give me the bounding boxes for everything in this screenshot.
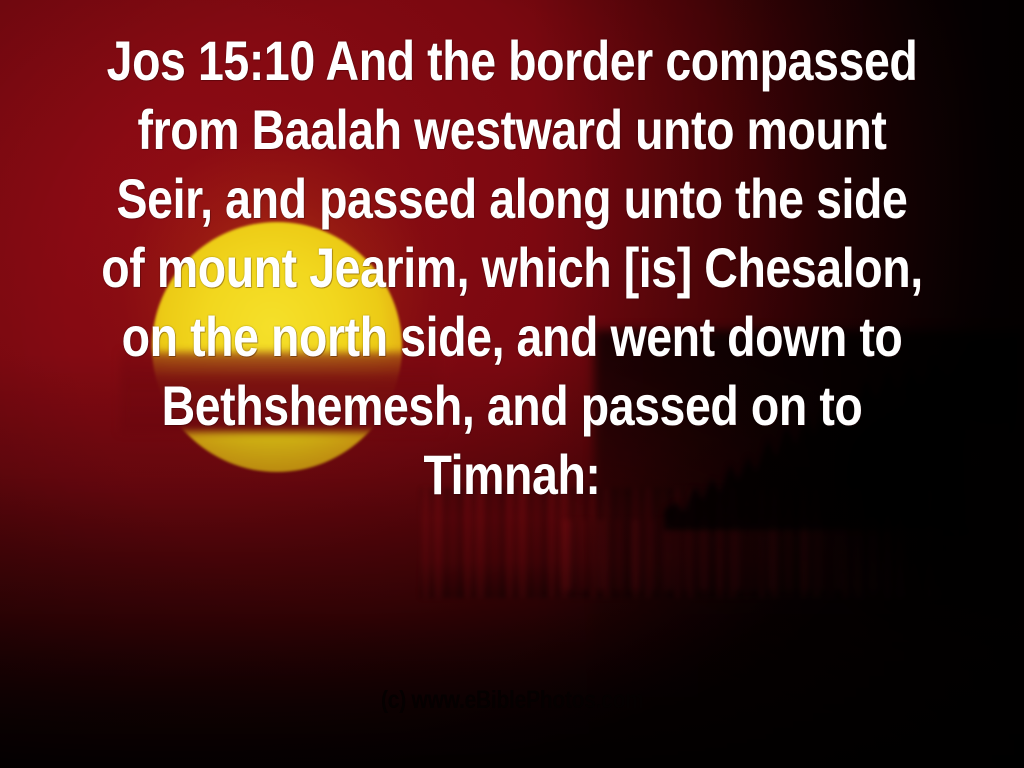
- verse-image-canvas: Jos 15:10 And the border compassed from …: [0, 0, 1024, 768]
- vignette-overlay: [0, 0, 1024, 768]
- copyright-credit-text: (c) www.eBiblePhotos.com: [381, 688, 644, 713]
- copyright-credit: (c) www.eBiblePhotos.com: [0, 688, 1024, 713]
